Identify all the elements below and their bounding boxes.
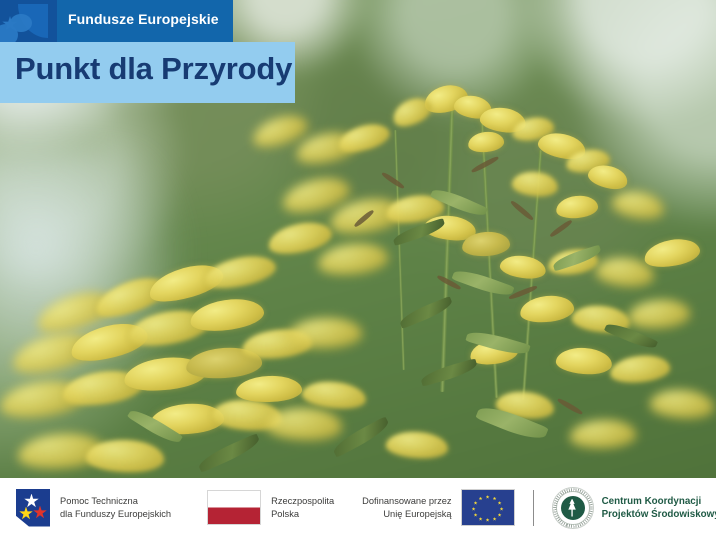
fundusze-europejskie-label: Fundusze Europejskie [68,11,219,27]
footer-logo-pomoc-techniczna: Pomoc Techniczna dla Funduszy Europejski… [16,489,171,527]
footer-logo-bar: Pomoc Techniczna dla Funduszy Europejski… [0,478,716,537]
polish-flag-icon [207,490,261,525]
fe-star-mark-icon [16,489,50,527]
footer-logo-label-line1: Rzeczpospolita [271,495,334,508]
star-icon [498,513,502,517]
star-icon [500,507,504,511]
poster-canvas: Fundusze Europejskie Punkt dla Przyrody … [0,0,716,537]
footer-logo-label-line2: Polska [271,508,334,521]
star-icon [486,495,490,499]
star-icon [33,506,47,520]
footer-logo-label: Pomoc Techniczna dla Funduszy Europejski… [60,495,171,520]
footer-logo-label: Rzeczpospolita Polska [271,495,334,520]
star-icon [493,517,497,521]
star-icon [479,497,483,501]
footer-row: Pomoc Techniczna dla Funduszy Europejski… [0,478,716,537]
footer-logo-label-line2: dla Funduszy Europejskich [60,508,171,521]
star-icon [479,517,483,521]
footer-logo-rzeczpospolita-polska: Rzeczpospolita Polska [207,490,334,525]
eu-flag-icon [461,489,515,526]
star-icon [472,507,476,511]
star-icon [498,501,502,505]
fundusze-europejskie-bar: Fundusze Europejskie [57,0,233,42]
tree-icon [567,499,578,517]
footer-logo-label-line2: Projektów Środowiskowych [602,508,716,521]
title-banner: Punkt dla Przyrody [0,42,295,103]
star-icon [24,494,39,509]
star-icon [474,501,478,505]
star-icon [493,497,497,501]
seal-inner-disc [561,496,585,520]
page-title: Punkt dla Przyrody [15,51,292,87]
footer-logo-label-line1: Dofinansowane przez [362,495,451,508]
footer-logo-label-line1: Centrum Koordynacji [602,495,716,508]
star-icon [474,513,478,517]
footer-logo-label-line1: Pomoc Techniczna [60,495,171,508]
footer-logo-ckps: Centrum Koordynacji Projektów Środowisko… [552,487,716,529]
footer-divider [533,490,534,526]
footer-logo-dofinansowane-ue: Dofinansowane przez Unię Europejską [362,489,514,526]
star-icon [486,518,490,522]
footer-logo-label: Centrum Koordynacji Projektów Środowisko… [602,495,716,521]
footer-logo-label: Dofinansowane przez Unię Europejską [362,495,451,520]
star-icon [19,507,33,521]
ckps-seal-icon [552,487,594,529]
footer-logo-label-line2: Unię Europejską [362,508,451,521]
eu-funds-logo-tile [0,0,57,42]
